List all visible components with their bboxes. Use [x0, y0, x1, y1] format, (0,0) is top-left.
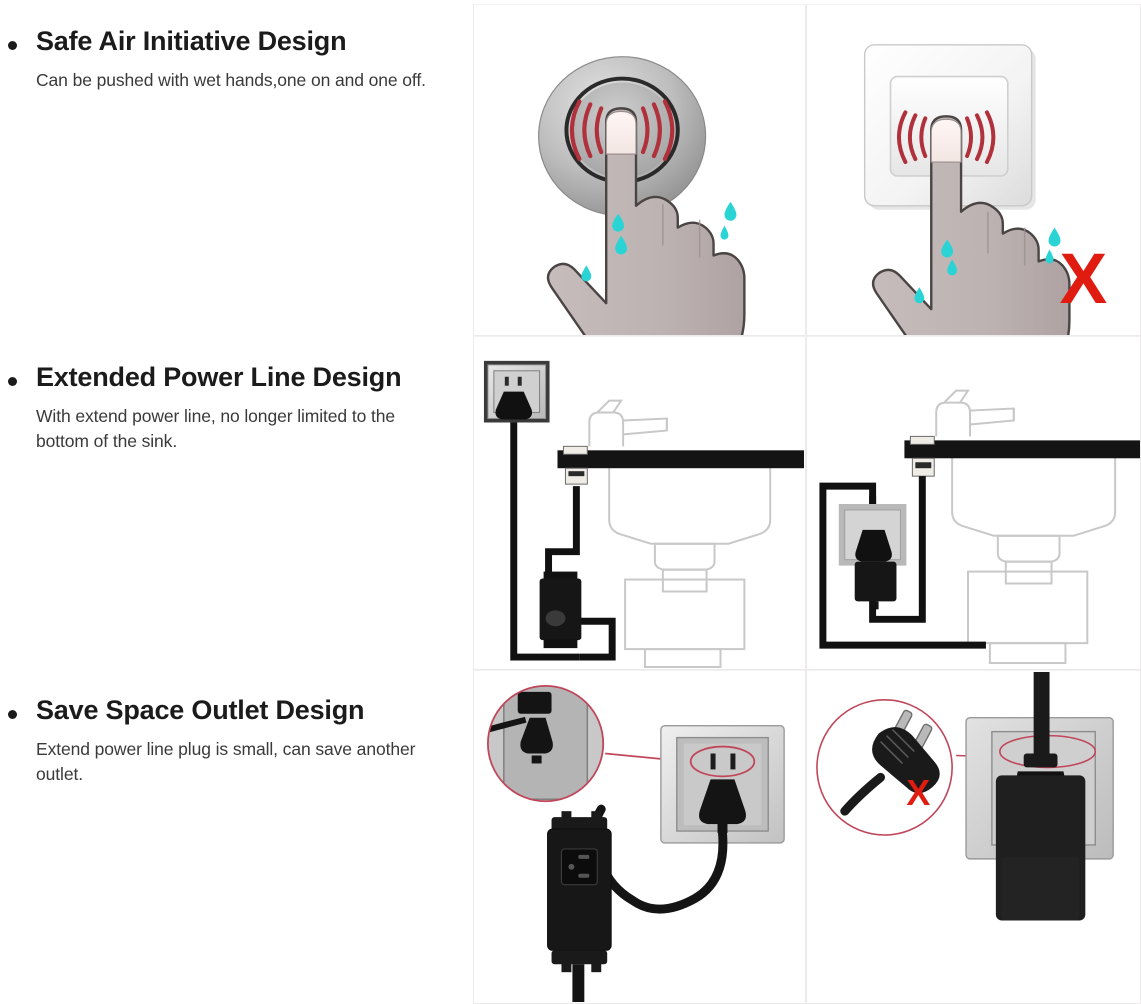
feature-block-extended-power-line: Extended Power Line Design With extend p…: [0, 362, 455, 455]
faucet: [936, 391, 1014, 437]
feature-description: Extend power line plug is small, can sav…: [36, 737, 428, 788]
panel-round-air-switch-wet-hand: [473, 4, 806, 336]
panel-wall-switch-wet-hand-not-allowed: X: [806, 4, 1141, 336]
garbage-disposal: [625, 580, 744, 667]
panel-slim-plug-saves-outlet: [473, 670, 806, 1004]
feature-title: Extended Power Line Design: [36, 362, 455, 394]
garbage-disposal: [968, 572, 1087, 663]
wall-outlet: [661, 726, 784, 843]
control-box-with-outlet: [548, 811, 612, 1002]
bullet-icon: [8, 41, 17, 50]
red-x-mark: X: [906, 773, 930, 813]
feature-heading: Save Space Outlet Design: [0, 695, 455, 727]
magnifier-circle: X: [817, 700, 952, 835]
illustration-grid: X: [473, 4, 1141, 1004]
svg-text:X: X: [1059, 239, 1107, 319]
panel-control-box-at-wall-outlet-sink: [806, 336, 1141, 670]
wall-outlet: [484, 361, 550, 423]
feature-title: Save Space Outlet Design: [36, 695, 455, 727]
feature-title: Safe Air Initiative Design: [36, 26, 455, 58]
countertop: [904, 440, 1140, 458]
control-box: [540, 572, 582, 649]
sink-basin: [609, 454, 770, 591]
feature-block-safe-air: Safe Air Initiative Design Can be pushed…: [0, 26, 455, 93]
feature-block-save-space-outlet: Save Space Outlet Design Extend power li…: [0, 695, 455, 788]
product-feature-infographic: Safe Air Initiative Design Can be pushed…: [0, 0, 1141, 1004]
feature-list: Safe Air Initiative Design Can be pushed…: [0, 0, 473, 1004]
bullet-icon: [8, 710, 17, 719]
panel-bulky-adapter-blocks-outlet: X: [806, 670, 1141, 1004]
feature-description: Can be pushed with wet hands,one on and …: [36, 68, 428, 93]
feature-heading: Extended Power Line Design: [0, 362, 455, 394]
panel-extended-power-line-sink: [473, 336, 806, 670]
magnifier-circle: [488, 680, 603, 801]
sink-basin: [952, 444, 1115, 583]
feature-description: With extend power line, no longer limite…: [36, 404, 428, 455]
feature-heading: Safe Air Initiative Design: [0, 26, 455, 58]
red-x-mark: X: [1059, 239, 1107, 319]
bulky-black-adapter: [996, 672, 1085, 921]
bullet-icon: [8, 377, 17, 386]
faucet: [589, 401, 667, 447]
countertop: [557, 450, 804, 468]
